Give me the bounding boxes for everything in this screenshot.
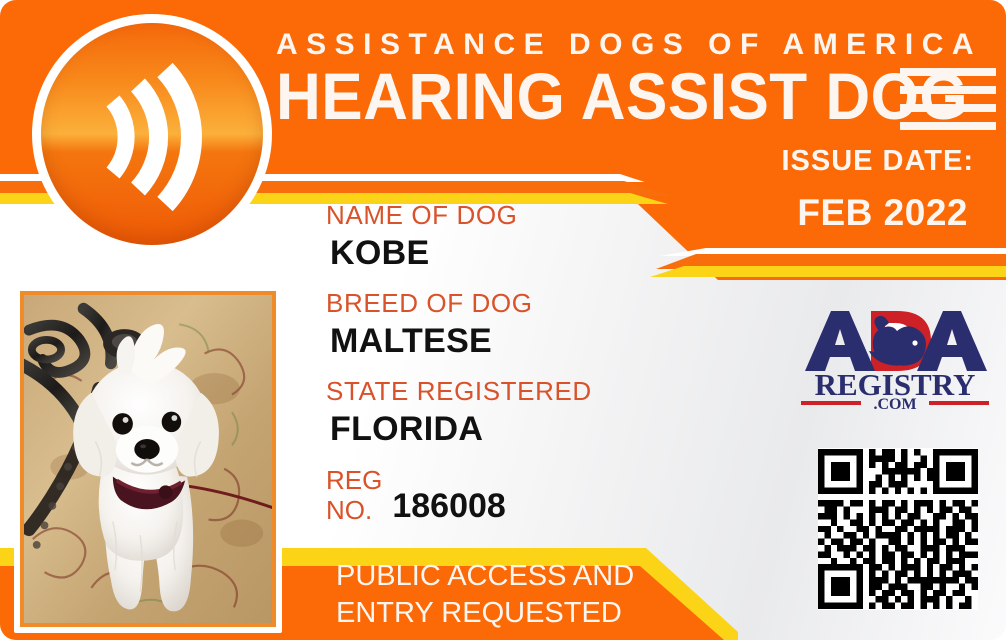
- sound-wave-icon: [41, 23, 263, 245]
- field-value: KOBE: [326, 232, 592, 276]
- ada-domain: .COM: [873, 396, 916, 411]
- card-title: HEARING ASSIST DOG: [276, 62, 968, 131]
- field-name-of-dog: NAME OF DOG KOBE: [326, 200, 592, 275]
- reg-label-line2: NO.: [326, 495, 382, 525]
- field-breed-of-dog: BREED OF DOG MALTESE: [326, 288, 592, 363]
- reg-label-line1: REG: [326, 465, 382, 495]
- ada-registry-logo-graphic: REGISTRY .COM: [795, 303, 995, 411]
- field-value: MALTESE: [326, 320, 592, 364]
- footer-text: PUBLIC ACCESS AND ENTRY REQUESTED: [336, 558, 634, 632]
- qr-code[interactable]: [818, 448, 978, 610]
- reg-label: REG NO.: [326, 465, 382, 525]
- right-divider-yellow: [650, 266, 1006, 277]
- issue-date-value: FEB 2022: [797, 192, 968, 234]
- field-value: FLORIDA: [326, 408, 592, 452]
- field-registration-number: REG NO. 186008: [326, 465, 592, 525]
- flag-stripes-icon: [900, 68, 996, 130]
- logo-disc: [41, 23, 263, 245]
- footer-line-1: PUBLIC ACCESS AND: [336, 558, 634, 595]
- footer-line-2: ENTRY REQUESTED: [336, 595, 634, 632]
- organization-logo: [32, 14, 272, 254]
- organization-name: ASSISTANCE DOGS OF AMERICA: [276, 28, 982, 62]
- reg-number-value: 186008: [392, 487, 505, 526]
- ada-registry-logo: REGISTRY .COM: [795, 303, 995, 411]
- field-label: NAME OF DOG: [326, 200, 592, 232]
- issue-date-label: ISSUE DATE:: [781, 145, 974, 178]
- dog-photo-image: [24, 295, 272, 623]
- dog-details: NAME OF DOG KOBE BREED OF DOG MALTESE ST…: [326, 200, 592, 529]
- dog-photo-frame: [14, 285, 282, 633]
- qr-code-graphic: [818, 448, 978, 610]
- field-label: BREED OF DOG: [326, 288, 592, 320]
- field-label: STATE REGISTERED: [326, 376, 592, 408]
- id-card: ASSISTANCE DOGS OF AMERICA HEARING ASSIS…: [0, 0, 1006, 640]
- field-state-registered: STATE REGISTERED FLORIDA: [326, 376, 592, 451]
- dog-photo: [20, 291, 276, 627]
